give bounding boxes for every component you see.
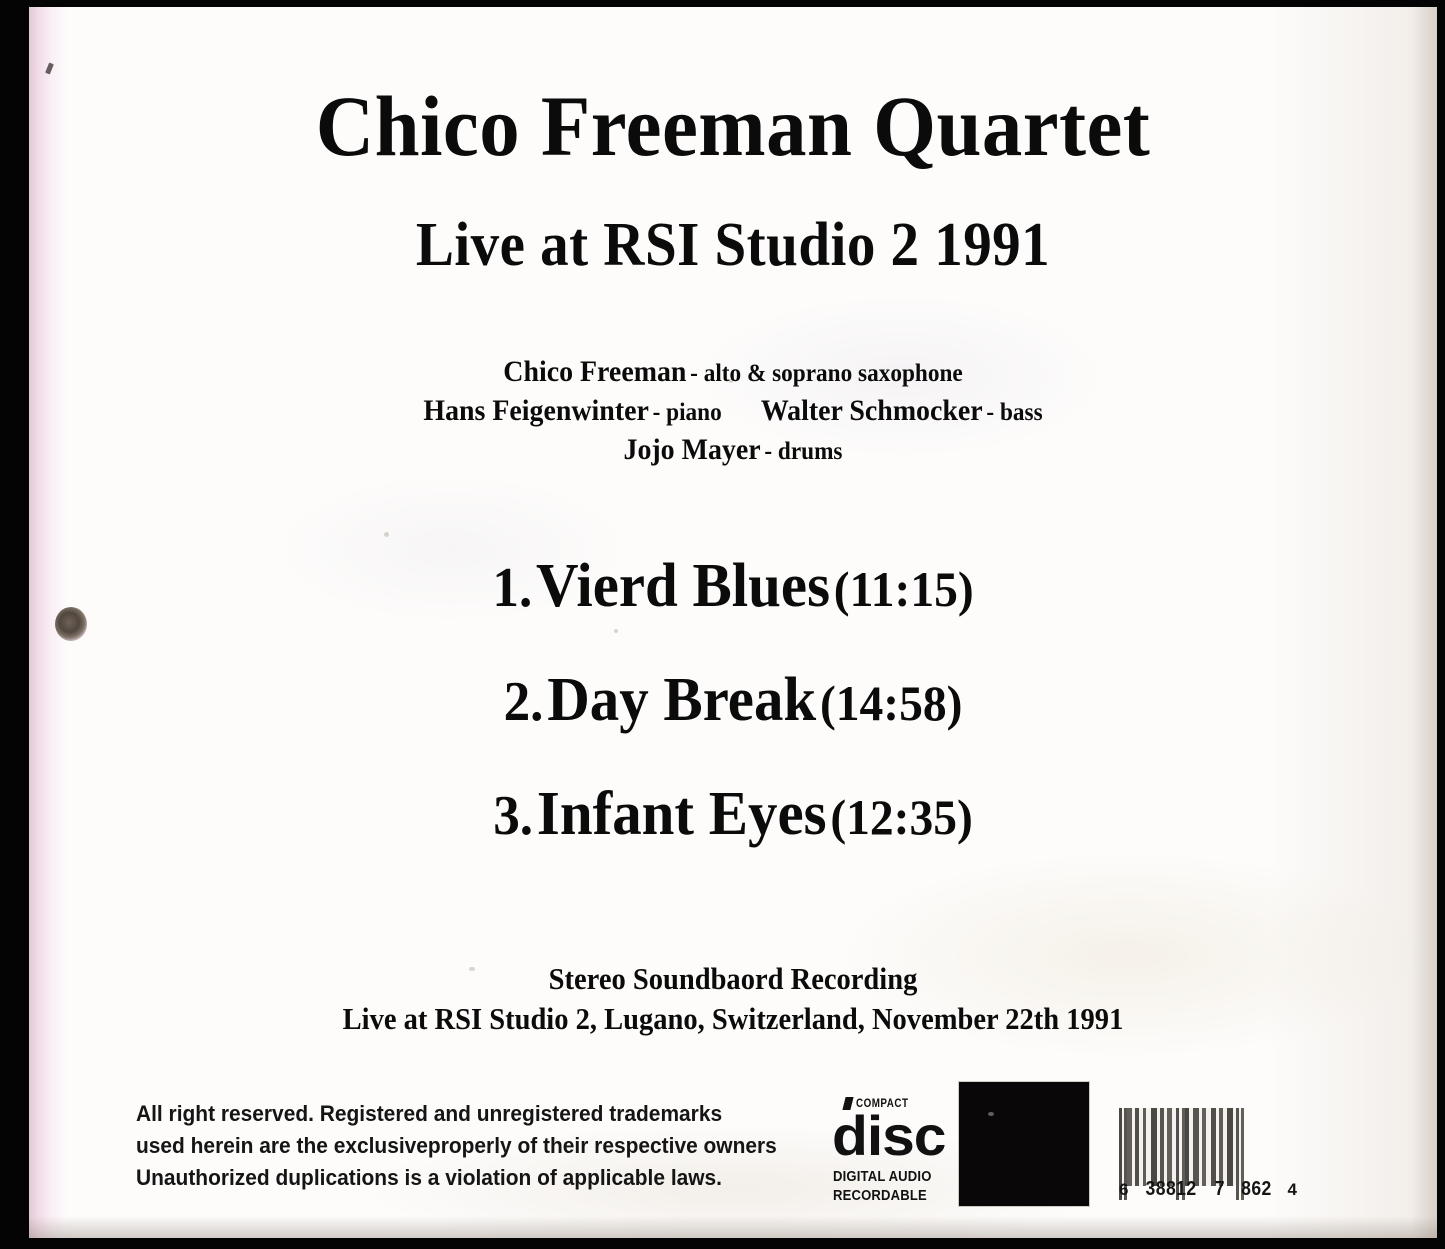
musician-instrument: - piano [653,399,722,426]
track-title: Day Break [547,666,816,734]
cd-tray-card: Chico Freeman Quartet Live at RSI Studio… [29,7,1437,1238]
legal-line: All right reserved. Registered and unreg… [136,1098,778,1130]
personnel-credits: Chico Freeman - alto & soprano saxophone… [29,352,1437,469]
track-row: 2. Day Break (14:58) [64,669,1402,731]
track-title: Vierd Blues [536,552,830,620]
barcode-group-left: 38812 [1146,1178,1197,1201]
compact-disc-logo-icon: COMPACT disc DIGITAL AUDIO RECORDABLE [832,1096,937,1216]
recording-venue-date: Live at RSI Studio 2, Lugano, Switzerlan… [85,999,1380,1039]
barcode-group-right: 862 [1241,1178,1272,1201]
barcode-digit-right: 4 [1288,1180,1297,1200]
track-duration: (14:58) [820,675,962,731]
personnel-line: Hans Feigenwinter - piano Walter Schmock… [78,391,1387,430]
ink-fleck [45,62,54,74]
legal-line: Unauthorized duplications is a violation… [136,1162,778,1194]
musician-name: Chico Freeman [503,355,686,388]
paper-speck [384,532,389,537]
track-listing: 1. Vierd Blues (11:15) 2. Day Break (14:… [29,555,1437,897]
track-title: Infant Eyes [537,780,827,848]
musician-name: Hans Feigenwinter [423,394,649,427]
track-duration: (11:15) [834,561,974,617]
barcode-digit-left: 6 [1119,1180,1128,1200]
musician-name: Jojo Mayer [623,433,760,466]
legal-notice: All right reserved. Registered and unreg… [136,1098,778,1194]
ean-barcode: 6 38812 7 862 4 [1119,1108,1297,1220]
barcode-group-mid: 7 [1215,1178,1225,1201]
musician-instrument: - alto & soprano saxophone [690,360,963,387]
cd-logo-disc-text: disc [832,1108,945,1164]
track-row: 1. Vierd Blues (11:15) [64,555,1402,617]
footer-strip: All right reserved. Registered and unreg… [29,1082,1437,1232]
cd-logo-recordable-text: RECORDABLE [833,1188,927,1204]
track-number: 2. [504,671,544,733]
track-duration: (12:35) [830,789,972,845]
glint-highlight [988,1112,994,1116]
album-title: Live at RSI Studio 2 1991 [85,214,1380,276]
recording-note: Stereo Soundbaord Recording Live at RSI … [29,959,1437,1040]
barcode-bars [1119,1108,1297,1186]
track-number: 1. [492,557,532,619]
cd-logo-digital-audio-text: DIGITAL AUDIO [833,1169,932,1185]
musician-instrument: - bass [986,399,1042,426]
track-number: 3. [493,785,533,847]
personnel-line: Jojo Mayer - drums [78,430,1387,469]
scanner-background: Chico Freeman Quartet Live at RSI Studio… [0,0,1445,1249]
musician-name: Walter Schmocker [761,394,983,427]
track-row: 3. Infant Eyes (12:35) [64,783,1402,845]
personnel-line: Chico Freeman - alto & soprano saxophone [78,352,1387,391]
barcode-digits: 6 38812 7 862 4 [1119,1178,1297,1201]
musician-instrument: - drums [764,438,842,465]
legal-line: used herein are the exclusiveproperly of… [136,1130,778,1162]
obscured-label-logo [959,1082,1089,1206]
recording-type: Stereo Soundbaord Recording [85,959,1380,999]
artist-title: Chico Freeman Quartet [71,83,1395,169]
